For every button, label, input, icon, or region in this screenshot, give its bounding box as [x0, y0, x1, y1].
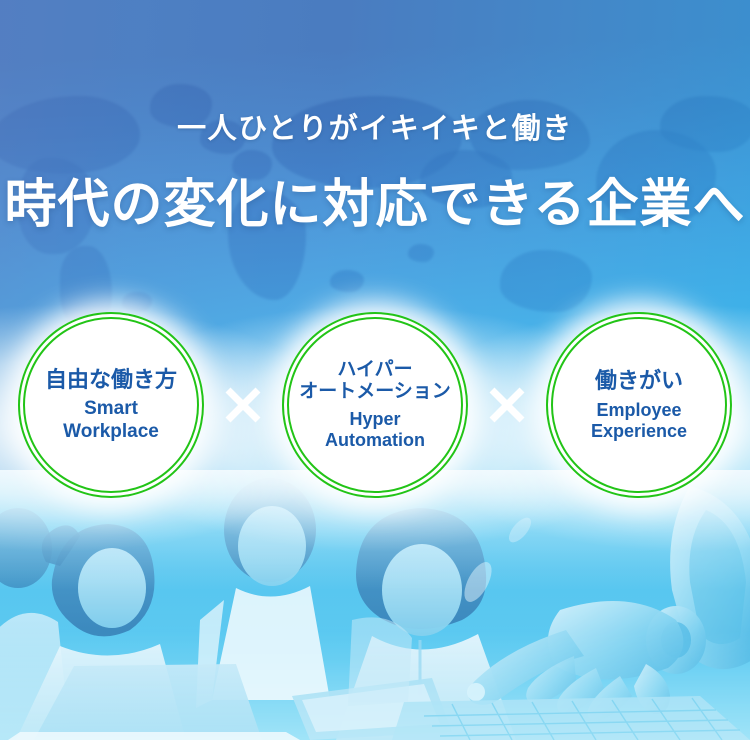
- concept-jp-label: ハイパー オートメーション: [299, 359, 451, 403]
- multiply-icon: [485, 383, 529, 427]
- photo-band: [0, 470, 750, 740]
- concept-circle-hyper-automation[interactable]: ハイパー オートメーション Hyper Automation: [287, 317, 463, 493]
- concept-circle-row: 自由な働き方 Smart Workplace ハイパー オートメーション Hyp…: [0, 315, 750, 495]
- concept-en-label: Smart Workplace: [63, 398, 159, 443]
- concept-jp-label: 働きがい: [595, 368, 683, 394]
- concept-circle-smart-workplace[interactable]: 自由な働き方 Smart Workplace: [23, 317, 199, 493]
- multiply-icon: [221, 383, 265, 427]
- multiply-separator-1: [199, 383, 287, 427]
- concept-circle-employee-experience[interactable]: 働きがい Employee Experience: [551, 317, 727, 493]
- concept-jp-label: 自由な働き方: [45, 367, 177, 393]
- concept-en-label: Employee Experience: [591, 400, 687, 442]
- concept-en-label: Hyper Automation: [325, 409, 425, 451]
- hero-banner: 一人ひとりがイキイキと働き 時代の変化に対応できる企業へ 自由な働き方 Smar…: [0, 0, 750, 740]
- banner-subheadline: 一人ひとりがイキイキと働き: [0, 114, 750, 146]
- multiply-separator-2: [463, 383, 551, 427]
- banner-headline: 時代の変化に対応できる企業へ: [0, 176, 750, 234]
